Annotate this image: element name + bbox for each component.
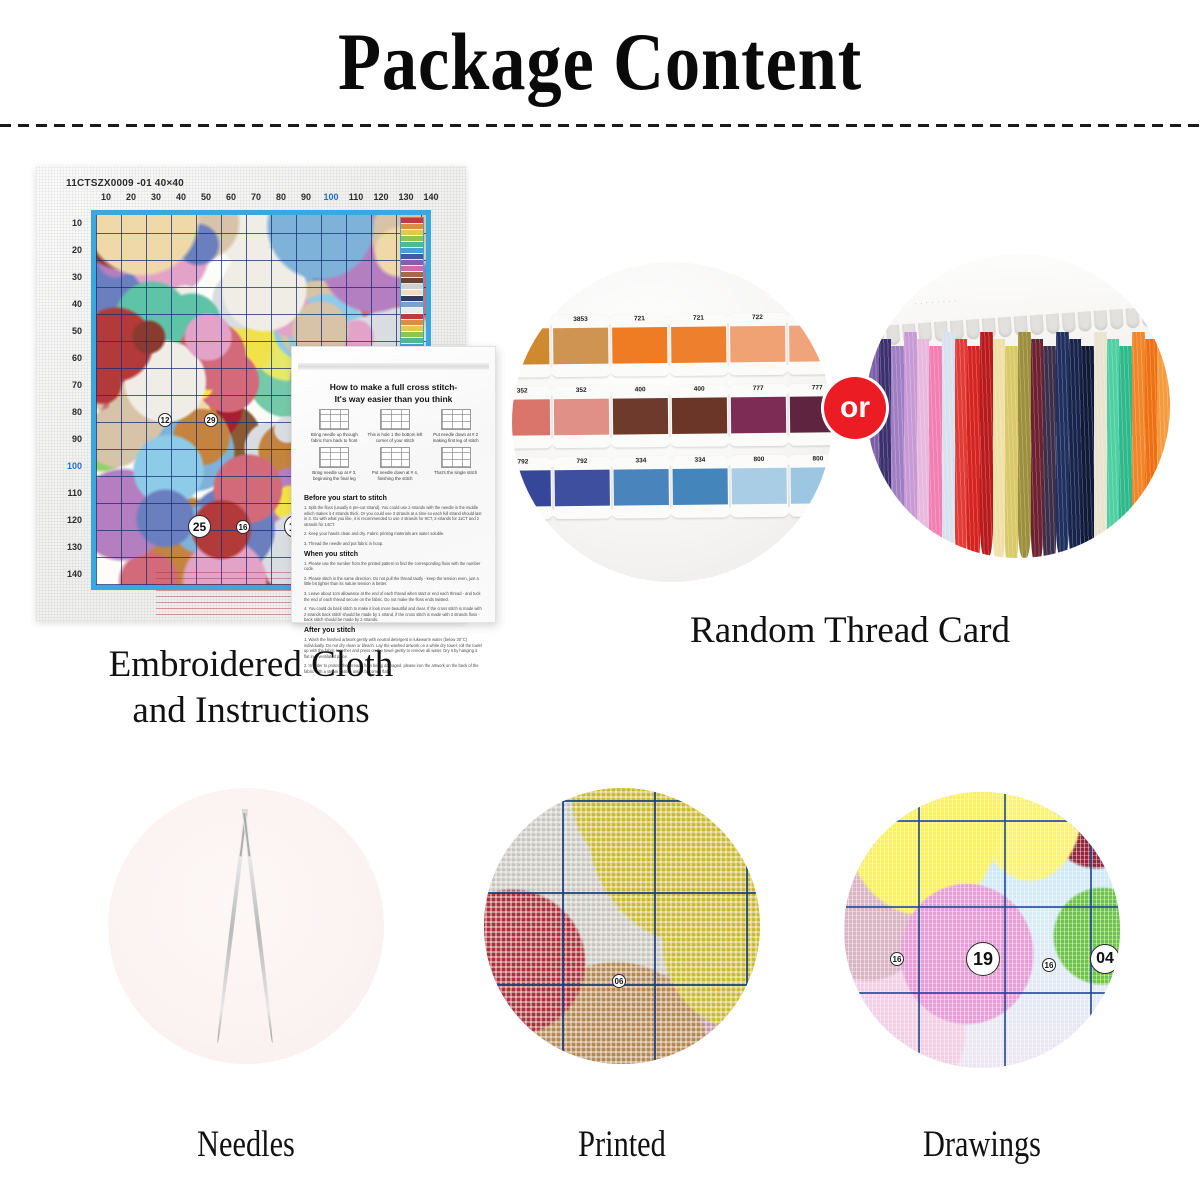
stitch-step-caption: Bring needle up through fabric from back… xyxy=(306,432,363,444)
thread-bobbin: 400 xyxy=(612,385,670,448)
printed-fabric-closeup-image: 06 xyxy=(484,788,760,1064)
thread-skein-card-image: · · · · · · · · xyxy=(866,254,1170,558)
thread-skein xyxy=(942,332,955,558)
ruler-tick-left: 30 xyxy=(72,272,82,282)
chart-symbol: 16 xyxy=(236,520,250,534)
ruler-tick-top: 60 xyxy=(226,192,236,202)
bobbin-thread-wrap xyxy=(730,326,785,363)
thread-skein xyxy=(879,339,892,558)
ruler-tick-left: 120 xyxy=(67,515,82,525)
bobbin-code-label: 3853 xyxy=(552,316,609,324)
bobbin-code-label: 721 xyxy=(611,315,668,323)
thread-bobbin: 400 xyxy=(671,384,729,447)
card-hole xyxy=(1062,312,1076,333)
stitch-step-caption: Bring needle up at # 3, beginning the fi… xyxy=(306,470,363,482)
drawing-symbol: 04 xyxy=(1090,944,1120,974)
bobbin-thread-wrap xyxy=(512,328,549,365)
ruler-tick-left: 100 xyxy=(67,461,82,471)
thread-skein xyxy=(1069,339,1082,558)
thread-bobbin: 721 xyxy=(670,313,728,376)
bobbin-code-label: 777 xyxy=(789,384,832,392)
stitch-step-diagrams: Bring needle up through fabric from back… xyxy=(306,409,484,482)
ruler-tick-top: 80 xyxy=(276,192,286,202)
bobbin-code-label: 400 xyxy=(671,385,728,393)
stitch-step-caption: Put needle down at # 2 making first leg … xyxy=(427,432,484,444)
instruction-title-line2: It's way easier than you think xyxy=(335,394,453,404)
bobbin-thread-wrap xyxy=(789,325,832,362)
card-hole xyxy=(1125,308,1139,329)
drawings-closeup-image: 19 16 16 04 xyxy=(844,792,1120,1068)
ruler-tick-left: 90 xyxy=(72,434,82,444)
ruler-tick-left: 10 xyxy=(72,218,82,228)
stitch-diagram-icon xyxy=(319,447,349,468)
bobbin-code-label: 334 xyxy=(671,456,728,464)
thread-skein xyxy=(1056,332,1069,558)
instruction-paragraph: 3. Leave about 1cm allowance at the end … xyxy=(304,591,483,602)
thread-bobbin: 352 xyxy=(553,386,611,449)
thread-bobbin: 792 xyxy=(553,457,611,520)
cloth-ruler-top: 102030405060708090100110120130140 xyxy=(94,192,444,210)
caption-embroidered-cloth: Embroidered Cloth and Instructions xyxy=(36,642,466,734)
thread-skein xyxy=(1043,346,1056,558)
bobbin-grid: 3853385372172172272235235240040077777779… xyxy=(512,312,832,520)
thread-bobbin: 3853 xyxy=(552,315,610,378)
drawings-grid-lines xyxy=(844,792,1120,1068)
bobbin-thread-wrap xyxy=(614,469,669,506)
stitch-step: Put needle down at # 4, finishing the st… xyxy=(367,447,424,482)
stitch-diagram-icon xyxy=(380,409,410,430)
stitch-step: Put needle down at # 2 making first leg … xyxy=(427,409,484,444)
bobbin-code-label: 722 xyxy=(788,313,832,321)
bobbin-code-label: 792 xyxy=(553,458,610,466)
thread-bobbin: 800 xyxy=(789,454,832,517)
instruction-sheet-bag: How to make a full cross stitch- It's wa… xyxy=(291,346,496,623)
thread-skein xyxy=(1145,339,1158,558)
skein-bundle xyxy=(866,332,1170,558)
needles-image xyxy=(108,788,384,1064)
ruler-tick-top: 100 xyxy=(323,192,338,202)
card-hole xyxy=(1110,309,1124,330)
ruler-tick-top: 110 xyxy=(349,192,364,202)
card-code-text: · · · · · · · · xyxy=(914,298,957,307)
thread-bobbin: 777 xyxy=(730,384,788,447)
instruction-title: How to make a full cross stitch- It's wa… xyxy=(302,381,485,405)
fabric-code-label: 11CTSZX0009 -01 40×40 xyxy=(66,178,184,189)
bobbin-code-label: 721 xyxy=(670,314,727,322)
stitch-step-caption: Put needle down at # 4, finishing the st… xyxy=(367,470,424,482)
instruction-section-heading: After you stitch xyxy=(304,627,483,634)
bobbin-thread-wrap xyxy=(791,467,832,504)
instruction-paragraph: 2. Keep your hands clean and dry. Fabric… xyxy=(304,531,483,537)
drawing-symbol: 16 xyxy=(890,952,904,966)
thread-skein xyxy=(929,346,942,558)
stitch-step-caption: This is hole 1 the bottom left corner of… xyxy=(367,432,424,444)
bobbin-thread-wrap xyxy=(554,399,609,436)
caption-printed: Printed xyxy=(507,1122,737,1168)
bobbin-code-label: 352 xyxy=(553,387,610,395)
bobbin-thread-wrap xyxy=(732,468,787,505)
needle-icon xyxy=(216,809,249,1044)
bobbin-code-label: 800 xyxy=(730,456,787,464)
stitch-step: Bring needle up at # 3, beginning the fi… xyxy=(306,447,363,482)
bobbin-code-label: 800 xyxy=(789,455,832,463)
printed-symbol: 06 xyxy=(612,974,626,988)
ruler-tick-top: 10 xyxy=(101,192,111,202)
stitch-diagram-icon xyxy=(319,409,349,430)
caption-needles: Needles xyxy=(131,1122,361,1168)
thread-skein xyxy=(1031,339,1044,558)
thread-bobbin-card-image: 3853385372172172272235235240040077777779… xyxy=(512,262,832,582)
ruler-tick-top: 140 xyxy=(423,192,438,202)
chart-symbol: 12 xyxy=(158,413,172,427)
ruler-tick-left: 130 xyxy=(67,542,82,552)
stitch-step: That's the single stitch xyxy=(427,447,484,482)
thread-skein xyxy=(1157,346,1170,558)
thread-skein xyxy=(1107,339,1120,558)
thread-bobbin: 352 xyxy=(512,386,551,449)
caption-drawings: Drawings xyxy=(867,1122,1097,1168)
drawing-symbol: 16 xyxy=(1042,958,1056,972)
bobbin-code-label: 352 xyxy=(512,387,551,395)
bobbin-thread-wrap xyxy=(731,397,786,434)
card-hole xyxy=(1094,310,1108,331)
bobbin-code-label: 777 xyxy=(730,385,787,393)
header-divider xyxy=(0,124,1200,127)
stitch-step: This is hole 1 the bottom left corner of… xyxy=(367,409,424,444)
ruler-tick-left: 110 xyxy=(67,488,82,498)
stitch-diagram-icon xyxy=(441,447,471,468)
bag-zip-seal xyxy=(298,363,489,370)
chart-symbol: 29 xyxy=(204,413,218,427)
bobbin-code-label: 3853 xyxy=(512,316,550,324)
ruler-tick-top: 90 xyxy=(301,192,311,202)
bobbin-thread-wrap xyxy=(512,470,551,507)
ruler-tick-top: 120 xyxy=(373,192,388,202)
stitch-diagram-icon xyxy=(380,447,410,468)
bobbin-thread-wrap xyxy=(672,397,727,434)
thread-skein xyxy=(891,346,904,558)
thread-bobbin: 722 xyxy=(729,313,787,376)
ruler-tick-left: 50 xyxy=(72,326,82,336)
stitch-diagram-icon xyxy=(441,409,471,430)
thread-skein xyxy=(866,332,879,558)
thread-bobbin: 334 xyxy=(671,455,729,518)
ruler-tick-left: 140 xyxy=(67,569,82,579)
thread-skein xyxy=(1018,332,1031,558)
thread-bobbin: 722 xyxy=(788,312,832,375)
instruction-section-heading: Before you start to stitch xyxy=(304,495,483,502)
stitch-step-caption: That's the single stitch xyxy=(427,470,484,476)
thread-skein xyxy=(917,339,930,558)
drawing-symbol: 19 xyxy=(966,942,1000,976)
chart-symbol: 25 xyxy=(188,515,211,538)
cloth-ruler-left: 102030405060708090100110120130140 xyxy=(56,210,86,590)
ruler-tick-top: 40 xyxy=(176,192,186,202)
bobbin-code-label: 334 xyxy=(612,457,669,465)
thread-skein xyxy=(1081,346,1094,558)
instruction-paragraph: 3. Thread the needle and put fabric in h… xyxy=(304,541,483,547)
ruler-tick-left: 70 xyxy=(72,380,82,390)
bobbin-thread-wrap xyxy=(553,328,608,365)
card-hole xyxy=(1078,311,1092,332)
ruler-tick-left: 20 xyxy=(72,245,82,255)
thread-skein xyxy=(1094,332,1107,558)
thread-skein xyxy=(1119,346,1132,558)
instruction-title-line1: How to make a full cross stitch- xyxy=(330,382,458,392)
thread-bobbin: 721 xyxy=(611,314,669,377)
thread-skein xyxy=(993,339,1006,558)
ruler-tick-top: 30 xyxy=(151,192,161,202)
thread-bobbin: 3853 xyxy=(512,315,551,378)
bobbin-thread-wrap xyxy=(671,326,726,363)
ruler-tick-left: 60 xyxy=(72,353,82,363)
ruler-tick-left: 40 xyxy=(72,299,82,309)
thread-skein xyxy=(1132,332,1145,558)
card-hole xyxy=(1157,306,1170,327)
ruler-tick-top: 70 xyxy=(251,192,261,202)
bobbin-code-label: 722 xyxy=(729,314,786,322)
thread-skein xyxy=(980,332,993,558)
thread-bobbin: 334 xyxy=(612,456,670,519)
bobbin-thread-wrap xyxy=(555,470,610,507)
or-badge-label: or xyxy=(840,393,870,423)
ruler-tick-left: 80 xyxy=(72,407,82,417)
stitch-step: Bring needle up through fabric from back… xyxy=(306,409,363,444)
thread-bobbin: 800 xyxy=(730,455,788,518)
bobbin-thread-wrap xyxy=(512,399,550,436)
printed-grid-lines xyxy=(484,788,760,1064)
bobbin-code-label: 792 xyxy=(512,458,552,466)
needle-icon xyxy=(242,809,275,1044)
bobbin-thread-wrap xyxy=(613,398,668,435)
instruction-paragraph: 1. Please use the number from the printe… xyxy=(304,561,483,572)
thread-skein xyxy=(904,332,917,558)
or-badge: or xyxy=(824,377,886,439)
ruler-tick-top: 20 xyxy=(126,192,136,202)
bobbin-thread-wrap xyxy=(612,327,667,364)
thread-skein xyxy=(1005,346,1018,558)
thread-bobbin: 792 xyxy=(512,457,552,520)
page-title: Package Content xyxy=(84,14,1116,110)
bobbin-code-label: 400 xyxy=(612,386,669,394)
ruler-tick-top: 130 xyxy=(398,192,413,202)
bobbin-thread-wrap xyxy=(673,468,728,505)
ruler-tick-top: 50 xyxy=(201,192,211,202)
card-hole xyxy=(1141,307,1155,328)
caption-random-thread-card: Random Thread Card xyxy=(620,608,1080,654)
thread-skein xyxy=(967,346,980,558)
instruction-paragraph: 1. Split the floss (usually 6 pre-cut st… xyxy=(304,505,483,527)
instruction-paragraph: 2. Please stitch in the same direction. … xyxy=(304,576,483,587)
thread-skein xyxy=(955,339,968,558)
instruction-paragraph: 4. You could do back stitch to make it l… xyxy=(304,606,483,623)
instruction-section-heading: When you stitch xyxy=(304,551,483,558)
